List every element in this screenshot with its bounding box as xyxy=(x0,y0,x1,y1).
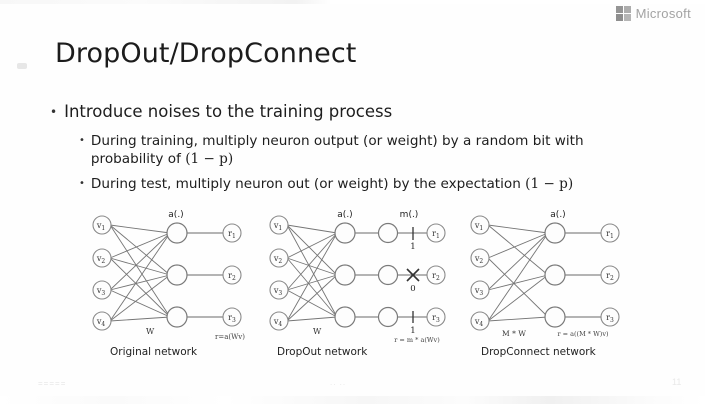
scan-artifact-top xyxy=(0,0,705,4)
caption-dropout-network: DropOut network xyxy=(277,346,367,358)
edges-hidden-act xyxy=(354,233,379,317)
bullet-level2-text: During training, multiply neuron output … xyxy=(91,132,636,168)
page-title: DropOut/DropConnect xyxy=(55,38,357,70)
microsoft-wordmark: Microsoft xyxy=(636,6,691,21)
weight-label-original: W xyxy=(146,327,155,336)
bullet-marker-icon: • xyxy=(79,132,85,150)
activation-label-dropconnect: a(.) xyxy=(550,210,565,220)
footer-center-text: .. .. xyxy=(330,378,346,387)
figure-dropconnect-network: v1 v2 v3 v4 r1 r2 r3 a(.) M * W r = a((M… xyxy=(458,203,643,343)
mask-value-1: 1 xyxy=(410,242,415,252)
input-nodes xyxy=(471,216,489,330)
activation-label-dropout: a(.) xyxy=(337,210,352,220)
slide-canvas: Microsoft DropOut/DropConnect • Introduc… xyxy=(0,0,705,404)
activation-nodes xyxy=(379,224,398,327)
activation-label-original: a(.) xyxy=(168,210,183,220)
formula-dropconnect: r = a((M * W)v) xyxy=(557,330,609,338)
input-nodes xyxy=(270,216,288,330)
node-labels: v1 v2 v3 v4 r1 r2 r3 xyxy=(273,221,440,328)
mask-value-3: 1 xyxy=(410,326,415,336)
network-diagrams: v1 v2 v3 v4 r1 r2 r3 a(.) W r=a(Wv) xyxy=(80,203,640,343)
hidden-nodes xyxy=(167,223,187,327)
original-network-svg: v1 v2 v3 v4 r1 r2 r3 a(.) W r=a(Wv) xyxy=(80,203,265,343)
microsoft-squares-icon xyxy=(616,6,631,21)
bullet-level2-math: (1 − p) xyxy=(525,176,573,192)
edges-input-hidden xyxy=(287,225,337,321)
bullet-list: • Introduce noises to the training proce… xyxy=(50,101,660,200)
caption-dropconnect-network: DropConnect network xyxy=(481,346,596,358)
edges-input-hidden xyxy=(110,225,170,321)
input-nodes xyxy=(93,216,111,330)
mask-value-2: 0 xyxy=(410,284,415,294)
formula-original: r=a(Wv) xyxy=(215,333,245,341)
bullet-level2: • During test, multiply neuron out (or w… xyxy=(79,175,660,193)
bullet-level1-text: Introduce noises to the training process xyxy=(64,101,392,123)
bullet-level1: • Introduce noises to the training proce… xyxy=(50,101,660,123)
bullet-level2: • During training, multiply neuron outpu… xyxy=(79,132,660,168)
edges-input-hidden-sparse xyxy=(488,225,548,321)
footer-left-text: ===== xyxy=(38,379,66,388)
hidden-nodes xyxy=(335,223,355,327)
bullet-level2-text: During test, multiply neuron out (or wei… xyxy=(91,175,573,193)
caption-original-network: Original network xyxy=(110,346,197,358)
bullet-level2-math: (1 − p) xyxy=(185,151,233,167)
bullet-marker-icon: • xyxy=(50,101,57,123)
bullet-marker-icon: • xyxy=(79,175,85,193)
slide-number: 11 xyxy=(672,377,681,387)
dropout-network-svg: v1 v2 v3 v4 r1 r2 r3 1 0 1 a(.) m(.) W r… xyxy=(257,203,457,343)
scan-smudge xyxy=(17,63,27,69)
bullet-level2-body: During test, multiply neuron out (or wei… xyxy=(91,176,525,192)
weight-label-dropconnect: M * W xyxy=(502,329,526,338)
mask-label-dropout: m(.) xyxy=(400,210,419,220)
bullet-sublist: • During training, multiply neuron outpu… xyxy=(79,132,660,193)
figure-dropout-network: v1 v2 v3 v4 r1 r2 r3 1 0 1 a(.) m(.) W r… xyxy=(257,203,457,343)
microsoft-brand: Microsoft xyxy=(616,6,691,21)
figure-original-network: v1 v2 v3 v4 r1 r2 r3 a(.) W r=a(Wv) xyxy=(80,203,265,343)
edges-hidden-output xyxy=(562,233,601,317)
weight-label-dropout: W xyxy=(313,327,322,336)
bullet-level2-body: During training, multiply neuron output … xyxy=(91,133,584,167)
hidden-nodes xyxy=(545,223,565,327)
scan-artifact-bottom xyxy=(0,396,705,404)
dropconnect-network-svg: v1 v2 v3 v4 r1 r2 r3 a(.) M * W r = a((M… xyxy=(458,203,643,343)
formula-dropout: r = m * a(Wv) xyxy=(394,336,440,343)
edges-hidden-output xyxy=(184,233,223,317)
